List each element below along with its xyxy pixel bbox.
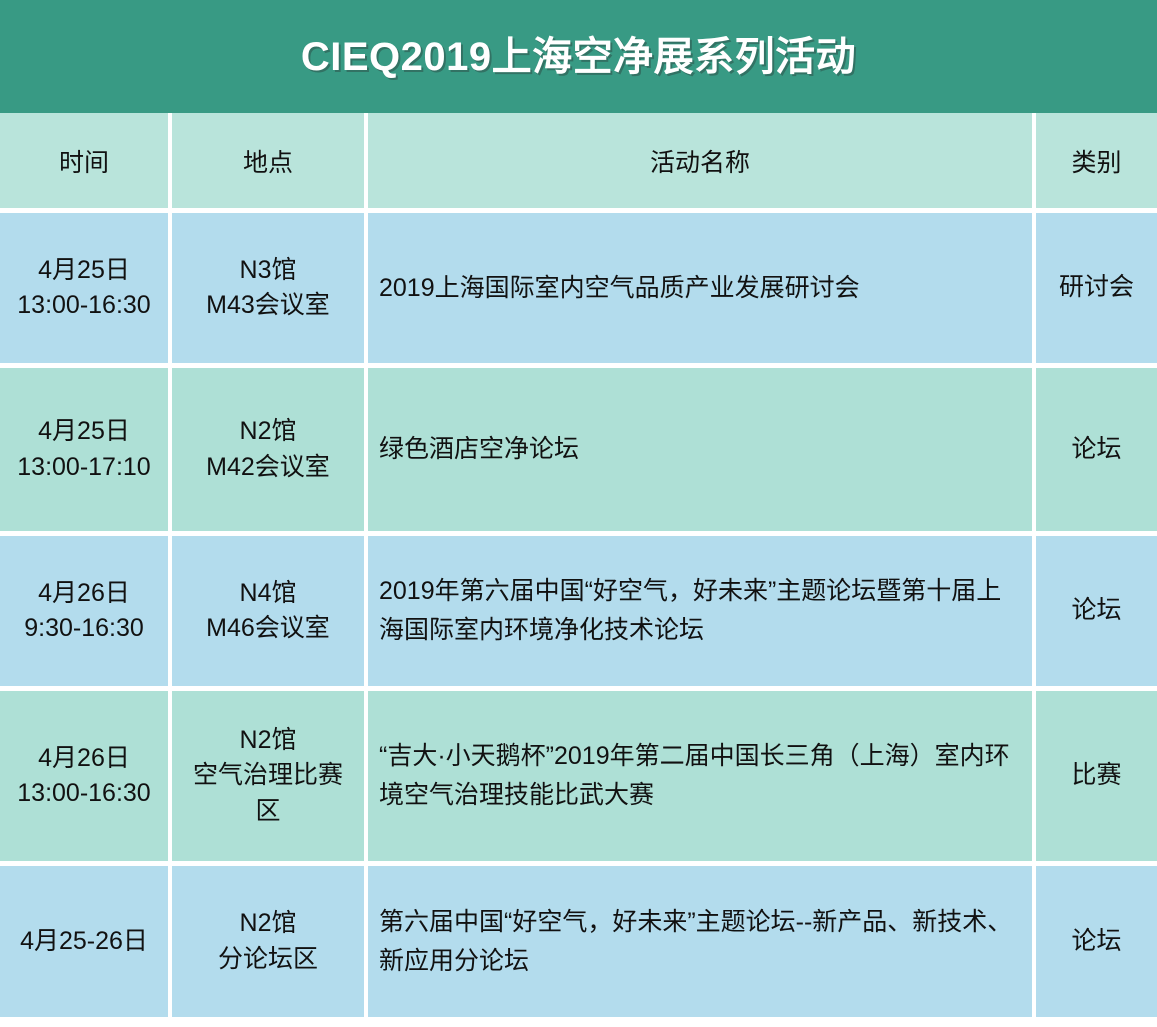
cell-activity-name: 第六届中国“好空气，好未来”主题论坛--新产品、新技术、新应用分论坛: [368, 866, 1036, 1022]
place-line-2: 分论坛区: [172, 942, 364, 978]
time-line-1: 4月25日: [0, 414, 168, 450]
place-line-1: N3馆: [172, 253, 364, 289]
cell-place: N2馆 空气治理比赛 区: [172, 691, 368, 866]
time-line-2: 13:00-17:10: [0, 450, 168, 486]
page-title: CIEQ2019上海空净展系列活动: [301, 37, 856, 77]
cell-place: N3馆 M43会议室: [172, 213, 368, 368]
place-line-2: M42会议室: [172, 450, 364, 486]
place-line-2: M46会议室: [172, 611, 364, 647]
cell-activity-name: “吉大·小天鹅杯”2019年第二届中国长三角（上海）室内环境空气治理技能比武大赛: [368, 691, 1036, 866]
cell-place: N2馆 分论坛区: [172, 866, 368, 1022]
place-line-1: N4馆: [172, 576, 364, 612]
time-line-2: 13:00-16:30: [0, 776, 168, 812]
column-header-type: 类别: [1036, 113, 1157, 213]
column-header-name: 活动名称: [368, 113, 1036, 213]
place-line-1: N2馆: [172, 906, 364, 942]
title-banner: CIEQ2019上海空净展系列活动: [0, 0, 1157, 113]
cell-activity-name: 2019年第六届中国“好空气，好未来”主题论坛暨第十届上海国际室内环境净化技术论…: [368, 536, 1036, 691]
place-line-1: N2馆: [172, 414, 364, 450]
cell-category: 论坛: [1036, 866, 1157, 1022]
cell-category: 研讨会: [1036, 213, 1157, 368]
cell-category: 比赛: [1036, 691, 1157, 866]
table-row: 4月25-26日 N2馆 分论坛区 第六届中国“好空气，好未来”主题论坛--新产…: [0, 866, 1157, 1022]
cell-time: 4月26日 13:00-16:30: [0, 691, 172, 866]
poster-root: CIEQ2019上海空净展系列活动 时间 地点 活动名称 类别 4月25日 13…: [0, 0, 1157, 1027]
place-line-2: 空气治理比赛: [172, 758, 364, 794]
cell-category: 论坛: [1036, 368, 1157, 536]
cell-time: 4月25日 13:00-17:10: [0, 368, 172, 536]
time-line-2: 13:00-16:30: [0, 288, 168, 324]
time-line-1: 4月26日: [0, 576, 168, 612]
cell-time: 4月25日 13:00-16:30: [0, 213, 172, 368]
time-line-1: 4月25日: [0, 253, 168, 289]
table-header-row: 时间 地点 活动名称 类别: [0, 113, 1157, 213]
table-row: 4月26日 13:00-16:30 N2馆 空气治理比赛 区 “吉大·小天鹅杯”…: [0, 691, 1157, 866]
time-line-1: 4月26日: [0, 741, 168, 777]
time-line-1: 4月25-26日: [0, 924, 168, 960]
place-line-2: M43会议室: [172, 288, 364, 324]
column-header-place: 地点: [172, 113, 368, 213]
cell-place: N4馆 M46会议室: [172, 536, 368, 691]
table-row: 4月25日 13:00-16:30 N3馆 M43会议室 2019上海国际室内空…: [0, 213, 1157, 368]
cell-place: N2馆 M42会议室: [172, 368, 368, 536]
time-line-2: 9:30-16:30: [0, 611, 168, 647]
cell-activity-name: 绿色酒店空净论坛: [368, 368, 1036, 536]
cell-time: 4月25-26日: [0, 866, 172, 1022]
cell-activity-name: 2019上海国际室内空气品质产业发展研讨会: [368, 213, 1036, 368]
cell-category: 论坛: [1036, 536, 1157, 691]
table-row: 4月25日 13:00-17:10 N2馆 M42会议室 绿色酒店空净论坛 论坛: [0, 368, 1157, 536]
table-row: 4月26日 9:30-16:30 N4馆 M46会议室 2019年第六届中国“好…: [0, 536, 1157, 691]
place-line-3: 区: [172, 794, 364, 830]
cell-time: 4月26日 9:30-16:30: [0, 536, 172, 691]
place-line-1: N2馆: [172, 723, 364, 759]
column-header-time: 时间: [0, 113, 172, 213]
schedule-table: 时间 地点 活动名称 类别 4月25日 13:00-16:30 N3馆 M43会…: [0, 113, 1157, 1022]
